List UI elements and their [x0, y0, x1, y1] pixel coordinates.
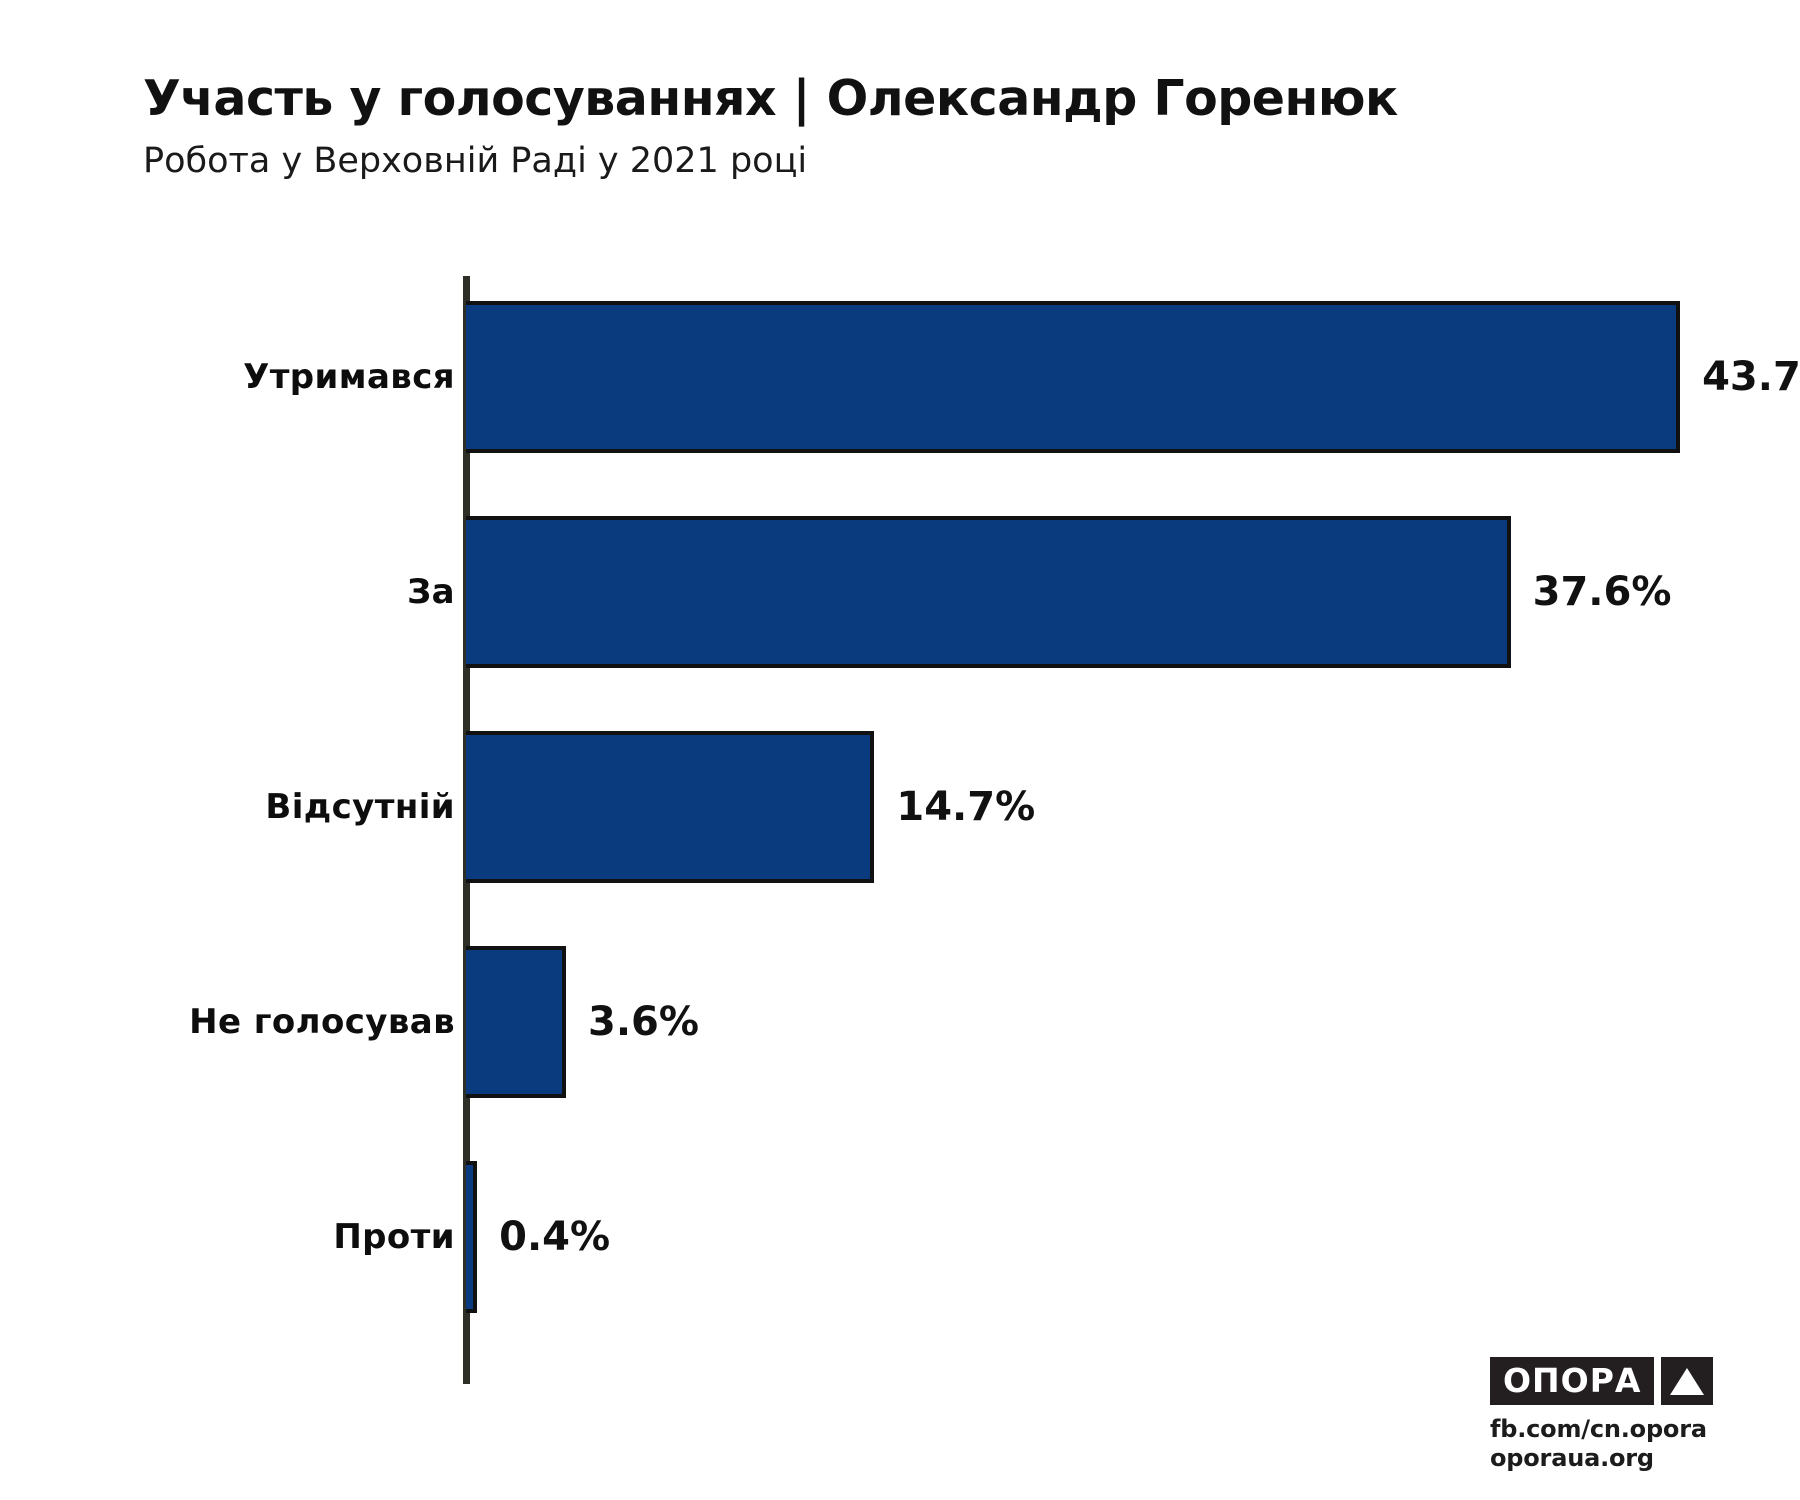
- category-label: Не голосував: [15, 1002, 455, 1042]
- bar-row: Проти0.4%: [0, 1161, 1800, 1313]
- opora-wordmark: ОПОРА: [1490, 1357, 1654, 1405]
- bar[interactable]: [466, 1161, 477, 1313]
- bar[interactable]: [466, 516, 1511, 668]
- chart-page: Участь у голосуваннях | Олександр Гореню…: [0, 0, 1800, 1500]
- bar-row: За37.6%: [0, 516, 1800, 668]
- bar[interactable]: [466, 946, 566, 1098]
- chart-header: Участь у голосуваннях | Олександр Гореню…: [143, 72, 1743, 181]
- bar[interactable]: [466, 301, 1680, 453]
- bar-row: Відсутній14.7%: [0, 731, 1800, 883]
- bar-value-label: 3.6%: [588, 999, 699, 1045]
- bar-value-label: 0.4%: [499, 1214, 610, 1260]
- bar-row: Утримався43.7%: [0, 301, 1800, 453]
- logo-links: fb.com/cn.opora oporaua.org: [1490, 1415, 1750, 1472]
- category-label: За: [15, 572, 455, 612]
- page-subtitle: Робота у Верховній Раді у 2021 році: [143, 141, 1743, 181]
- triangle-up-icon: [1661, 1357, 1713, 1405]
- bar-value-label: 37.6%: [1533, 569, 1672, 615]
- bar-value-label: 43.7%: [1702, 354, 1800, 400]
- bar-value-label: 14.7%: [896, 784, 1035, 830]
- bar-chart-plot-area: Утримався43.7%За37.6%Відсутній14.7%Не го…: [0, 270, 1800, 1390]
- page-title: Участь у голосуваннях | Олександр Гореню…: [143, 72, 1743, 127]
- category-label: Відсутній: [15, 787, 455, 827]
- category-label: Утримався: [15, 357, 455, 397]
- facebook-link[interactable]: fb.com/cn.opora: [1490, 1415, 1750, 1443]
- website-link[interactable]: oporaua.org: [1490, 1444, 1750, 1472]
- bar[interactable]: [466, 731, 874, 883]
- bar-row: Не голосував3.6%: [0, 946, 1800, 1098]
- category-label: Проти: [15, 1217, 455, 1257]
- logo-marks: ОПОРА: [1490, 1357, 1750, 1405]
- opora-logo-block: ОПОРА fb.com/cn.opora oporaua.org: [1490, 1357, 1750, 1472]
